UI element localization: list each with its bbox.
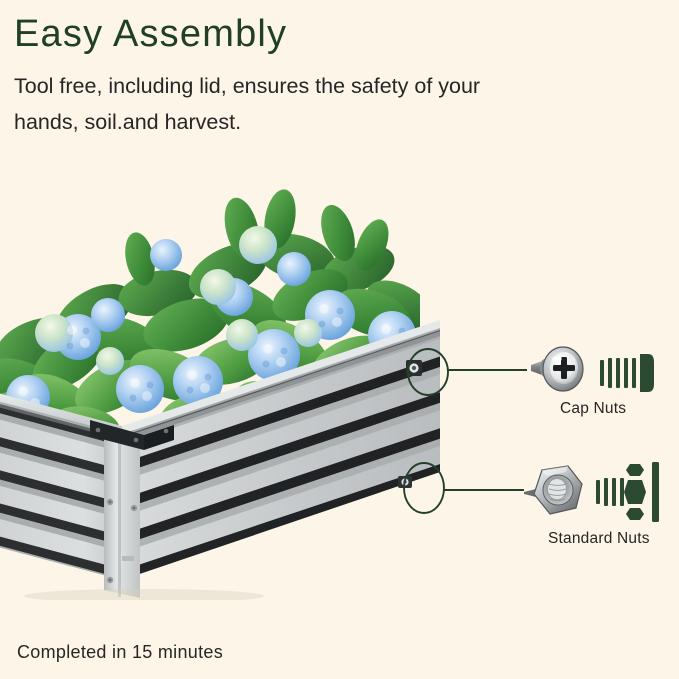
page-title: Easy Assembly bbox=[14, 11, 287, 57]
standard-nut-diagram-icon bbox=[594, 458, 666, 528]
cap-nut-diagram-icon bbox=[596, 344, 662, 402]
cap-nuts-label: Cap Nuts bbox=[560, 400, 626, 418]
top-rail-bolt bbox=[406, 360, 422, 376]
subtitle-line-1: Tool free, including lid, ensures the sa… bbox=[14, 68, 624, 104]
page-subtitle: Tool free, including lid, ensures the sa… bbox=[14, 68, 624, 140]
raised-garden-bed bbox=[0, 250, 440, 600]
cap-nut-screw-photo bbox=[527, 341, 589, 397]
completion-time-note: Completed in 15 minutes bbox=[17, 640, 223, 664]
standard-nuts-label: Standard Nuts bbox=[548, 530, 650, 548]
subtitle-line-2: hands, soil.and harvest. bbox=[14, 104, 624, 140]
infographic-canvas: Easy Assembly Tool free, including lid, … bbox=[0, 0, 679, 679]
hex-nut-photo bbox=[522, 462, 586, 522]
corner-post bbox=[104, 430, 140, 598]
side-panel-bolt bbox=[398, 476, 412, 488]
